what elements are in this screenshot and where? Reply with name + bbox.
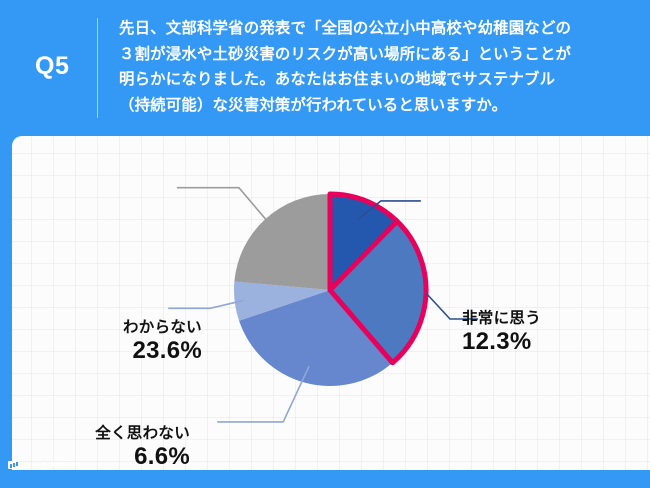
leader-line-3	[168, 300, 244, 308]
logo-text: セレクトラ｜電気ガス比較	[21, 462, 80, 468]
question-text: 先日、文部科学省の発表で「全国の公立小中高校や幼稚園などの ３割が浸水や土砂災害…	[119, 16, 627, 118]
footer-logo[interactable]: セレクトラ｜電気ガス比較	[8, 461, 80, 469]
callout-category-3: 全く思わない	[40, 424, 190, 443]
callout-value-0: 12.3%	[462, 328, 541, 356]
callout-value-4: 23.6%	[34, 337, 202, 365]
callout-category-4: わからない	[34, 318, 202, 337]
chart-logo-icon	[8, 461, 18, 469]
question-number-badge: Q5	[35, 52, 69, 81]
callout-category-0: 非常に思う	[462, 309, 541, 328]
pie-chart	[12, 136, 650, 470]
question-line-2: ３割が浸水や土砂災害のリスクが高い場所にある」ということが	[119, 42, 627, 68]
question-header: Q5 先日、文部科学省の発表で「全国の公立小中高校や幼稚園などの ３割が浸水や土…	[0, 0, 650, 136]
chart-card: 非常に思う 12.3% やや思う 26.4% あまり思わない 31.1% 全く思…	[12, 136, 650, 470]
header-divider	[97, 18, 98, 118]
question-line-1: 先日、文部科学省の発表で「全国の公立小中高校や幼稚園などの	[119, 16, 627, 42]
callout-label-wakaranai: わからない 23.6%	[34, 318, 202, 365]
pie-slice-4	[234, 194, 330, 290]
callout-label-hijou-ni-omou: 非常に思う 12.3%	[462, 309, 541, 356]
question-line-3: 明らかになりました。あなたはお住まいの地域でサステナブル	[119, 67, 627, 93]
question-line-4: （持続可能）な災害対策が行われていると思いますか。	[119, 93, 627, 119]
leader-line-4	[177, 188, 273, 228]
